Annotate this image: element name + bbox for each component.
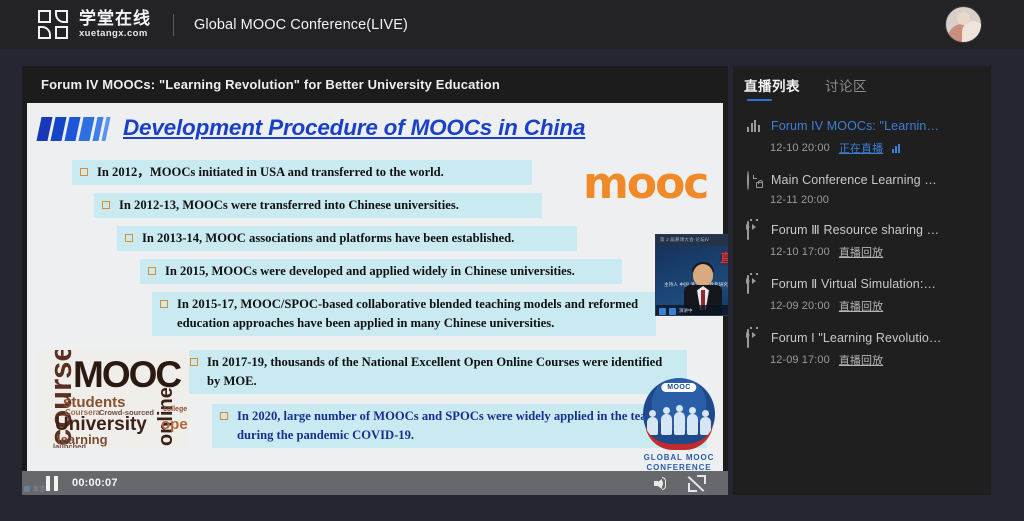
bullet-square-icon (160, 300, 168, 308)
wordcloud-word: college (163, 406, 187, 413)
pip-header-text: 第 2 届慕课大会·论坛Ⅳ (656, 235, 728, 246)
presentation-slide: Development Procedure of MOOCs in China … (27, 103, 723, 471)
session-time: 12-09 17:00 (770, 354, 830, 366)
slide-heading-row: Development Procedure of MOOCs in China (39, 115, 585, 141)
player-controls: 00:00:07 (22, 471, 728, 495)
session-title: Forum I "Learning Revolutio… (771, 331, 942, 345)
speaker-pip-window[interactable]: 第 2 届慕课大会·论坛Ⅳ 主持人 中国 清华大学教育研究院 演讲中 直播 (655, 234, 728, 316)
list-item[interactable]: Forum Ⅲ Resource sharing … 12-10 17:00 直… (733, 214, 991, 268)
session-time: 12-10 17:00 (770, 246, 830, 258)
bullet-square-icon (148, 267, 156, 275)
sidebar-tabs: 直播列表 讨论区 (733, 66, 991, 103)
session-title: Forum Ⅱ Virtual Simulation:… (771, 276, 936, 291)
video-replay-icon (747, 330, 762, 345)
slide-bullet: In 2012，MOOCs initiated in USA and trans… (72, 160, 532, 185)
global-mooc-conference-logo: MOOC GLOBAL MOOC CONFERENCE (627, 378, 728, 466)
list-item[interactable]: Forum Ⅱ Virtual Simulation:… 12-09 20:00… (733, 268, 991, 322)
avatar[interactable] (945, 6, 982, 43)
live-badge: 直播 (720, 249, 728, 266)
slide-bullet: In 2012-13, MOOCs were transferred into … (94, 193, 542, 218)
brand-domain: xuetangx.com (79, 28, 151, 39)
mooc-logo-text: mooc (583, 158, 707, 209)
bullet-text: In 2017-19, thousands of the National Ex… (207, 353, 677, 391)
list-item[interactable]: Forum I "Learning Revolutio… 12-09 17:00… (733, 322, 991, 376)
video-title: Forum IV MOOCs: "Learning Revolution" fo… (22, 66, 728, 103)
wordcloud-word: launched (53, 442, 86, 448)
status-badge[interactable]: 直播回放 (839, 352, 883, 368)
pip-mic-icon (669, 308, 676, 315)
session-time: 12-09 20:00 (770, 300, 830, 312)
list-item[interactable]: Forum IV MOOCs: "Learnin… 12-10 20:00 正在… (733, 111, 991, 164)
video-replay-icon (747, 276, 762, 291)
status-badge[interactable]: 直播回放 (839, 244, 883, 260)
slide-bullet: In 2013-14, MOOC associations and platfo… (117, 226, 577, 251)
slide-bullet: In 2017-19, thousands of the National Ex… (182, 350, 687, 394)
decorative-bars-icon (39, 115, 111, 141)
bullet-text: In 2012-13, MOOCs were transferred into … (119, 196, 459, 215)
bullet-text: In 2012，MOOCs initiated in USA and trans… (97, 163, 444, 182)
session-title: Main Conference Learning … (771, 173, 937, 187)
video-player: Forum IV MOOCs: "Learning Revolution" fo… (22, 66, 728, 495)
mooc-wordcloud-image: course MOOC students University online l… (37, 350, 189, 448)
top-navigation-bar: 学堂在线 xuetangx.com Global MOOC Conference… (0, 0, 1024, 49)
status-badge[interactable]: 正在直播 (839, 140, 883, 156)
live-session-list: Forum IV MOOCs: "Learnin… 12-10 20:00 正在… (733, 103, 991, 376)
wordcloud-word: ope (161, 416, 188, 433)
bullet-square-icon (125, 234, 133, 242)
clock-lock-icon (747, 172, 762, 187)
video-stage[interactable]: Development Procedure of MOOCs in China … (22, 103, 728, 495)
session-time: 12-10 20:00 (770, 142, 830, 154)
live-animation-icon (892, 144, 900, 153)
session-title: Forum Ⅲ Resource sharing … (771, 222, 939, 237)
bullet-text: In 2015-17, MOOC/SPOC-based collaborativ… (177, 295, 646, 333)
conference-badge-text: MOOC (661, 383, 696, 392)
brand-logo[interactable]: 学堂在线 xuetangx.com (38, 10, 151, 40)
tab-discussion[interactable]: 讨论区 (825, 75, 867, 95)
pip-name-tag: 演讲中 (679, 308, 693, 314)
list-item[interactable]: Main Conference Learning … 12-11 20:00 (733, 164, 991, 214)
slide-bullet: In 2015-17, MOOC/SPOC-based collaborativ… (152, 292, 656, 336)
header-divider (173, 14, 174, 36)
right-sidebar: 直播列表 讨论区 Forum IV MOOCs: "Learnin… 12-10… (733, 66, 991, 495)
xuetangx-logo-icon (38, 10, 70, 40)
session-time: 12-11 20:00 (770, 194, 829, 206)
page-title: Global MOOC Conference(LIVE) (194, 17, 408, 33)
pause-button[interactable] (46, 476, 58, 491)
signal-bars-icon (747, 120, 762, 132)
conference-logo-line1: GLOBAL MOOC (627, 453, 728, 463)
bullet-text: In 2013-14, MOOC associations and platfo… (142, 229, 514, 248)
slide-bullet: In 2015, MOOCs were developed and applie… (140, 259, 622, 284)
slide-heading: Development Procedure of MOOCs in China (123, 115, 585, 141)
pip-participant-icon (659, 308, 666, 315)
bullet-square-icon (190, 358, 198, 366)
wordcloud-word: Crowd-sourced (99, 408, 154, 417)
wordcloud-word: Coursera (65, 408, 100, 417)
brand-name-cn: 学堂在线 (79, 10, 151, 28)
tab-live-list[interactable]: 直播列表 (744, 75, 800, 95)
status-badge[interactable]: 直播回放 (839, 298, 883, 314)
volume-icon[interactable] (650, 476, 666, 490)
pip-bottom-bar: 演讲中 (656, 305, 728, 316)
session-title: Forum IV MOOCs: "Learnin… (771, 119, 939, 133)
bullet-square-icon (220, 412, 228, 420)
video-replay-icon (747, 222, 762, 237)
fullscreen-icon[interactable] (688, 475, 706, 492)
active-tab-indicator (747, 99, 772, 102)
bullet-square-icon (102, 201, 110, 209)
bullet-square-icon (80, 168, 88, 176)
bullet-text: In 2015, MOOCs were developed and applie… (165, 262, 575, 281)
current-time-label: 00:00:07 (72, 477, 118, 489)
